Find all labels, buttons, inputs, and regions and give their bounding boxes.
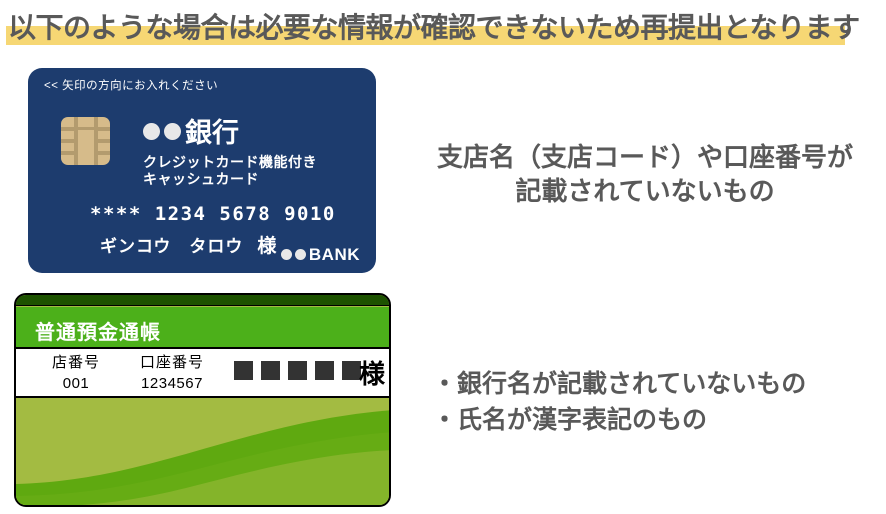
passbook-spine <box>16 295 389 306</box>
redaction-block <box>261 361 280 380</box>
passbook-illustration: 普通預金通帳 店番号 001 口座番号 1234567 様 <box>14 293 391 507</box>
passbook-account-value: 1234567 <box>122 373 222 394</box>
page-title-text: 以下のような場合は必要な情報が確認できないため再提出となります <box>8 6 860 46</box>
card-subtitle-line1: クレジットカード機能付き <box>143 154 317 170</box>
passbook-branch-field: 店番号 001 <box>36 352 116 394</box>
passbook-name-redaction-blocks <box>234 361 361 380</box>
card-holder-name: ギンコウ タロウ様 <box>100 231 277 258</box>
passbook-branch-value: 001 <box>36 373 116 394</box>
passbook-body-artwork <box>16 398 389 507</box>
passbook-title: 普通預金通帳 <box>35 316 161 345</box>
card-holder-suffix: 様 <box>257 236 277 257</box>
card-bank-name: 銀行 <box>143 120 239 147</box>
passbook-branch-label: 店番号 <box>36 352 116 373</box>
note-passbook-line-1: ・銀行名が記載されていないもの <box>432 366 882 402</box>
card-chip-icon <box>61 117 110 165</box>
card-bank-logo-text: BANK <box>309 245 360 264</box>
note-card-requirements: 支店名（支店コード）や口座番号が 記載されていないもの <box>415 140 875 208</box>
bank-name-dot-1 <box>143 123 160 140</box>
note-passbook-requirements: ・銀行名が記載されていないもの ・氏名が漢字表記のもの <box>432 366 882 438</box>
bank-name-dot-2 <box>164 123 181 140</box>
card-holder-name-text: ギンコウ タロウ <box>100 237 243 256</box>
logo-dot-1 <box>281 249 292 260</box>
card-number: **** 1234 5678 9010 <box>90 203 336 225</box>
page-title: 以下のような場合は必要な情報が確認できないため再提出となります <box>0 4 886 48</box>
logo-dot-2 <box>295 249 306 260</box>
redaction-block <box>315 361 334 380</box>
note-card-line-2: 記載されていないもの <box>415 174 875 208</box>
note-card-line-1: 支店名（支店コード）や口座番号が <box>415 140 875 174</box>
redaction-block <box>288 361 307 380</box>
passbook-account-label: 口座番号 <box>122 352 222 373</box>
passbook-info-strip: 店番号 001 口座番号 1234567 様 <box>16 349 389 398</box>
card-subtitle: クレジットカード機能付き キャッシュカード <box>143 154 317 188</box>
card-bank-name-text: 銀行 <box>185 118 239 148</box>
redaction-block <box>234 361 253 380</box>
card-subtitle-line2: キャッシュカード <box>143 171 259 187</box>
passbook-name-suffix: 様 <box>359 354 385 391</box>
bank-card-illustration: << 矢印の方向にお入れください 銀行 クレジットカード機能付き キャッシュカー… <box>28 68 376 273</box>
card-bank-logo: BANK <box>281 245 360 265</box>
passbook-header-bar: 普通預金通帳 <box>16 307 389 349</box>
passbook-wave-graphic <box>16 398 389 507</box>
passbook-account-field: 口座番号 1234567 <box>122 352 222 394</box>
note-passbook-line-2: ・氏名が漢字表記のもの <box>432 402 882 438</box>
card-insert-instruction: << 矢印の方向にお入れください <box>44 77 218 93</box>
